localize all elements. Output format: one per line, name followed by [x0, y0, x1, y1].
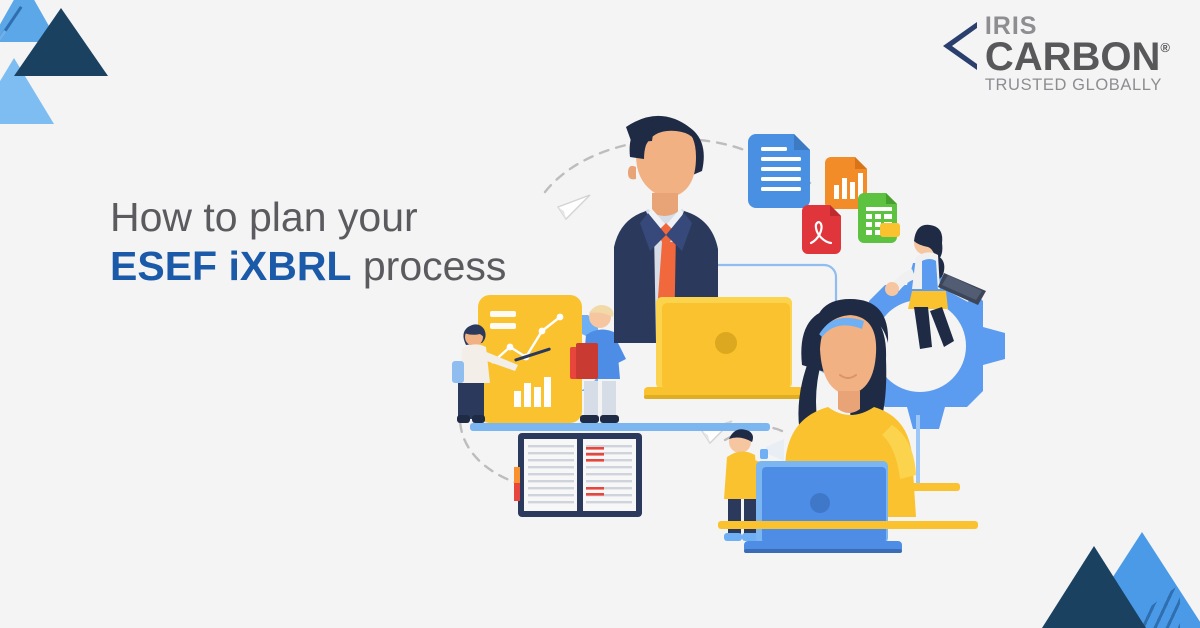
headline-accent: ESEF iXBRL — [110, 243, 351, 289]
document-file-icon — [748, 134, 810, 208]
triangle-dark-bottom-right — [1042, 546, 1146, 628]
blue-laptop — [744, 461, 902, 553]
triangle-dark-top-left — [14, 8, 108, 76]
open-ledger-book — [514, 433, 642, 517]
logo-secondary-row: CARBON ® — [985, 39, 1170, 76]
banner-root: IRIS CARBON ® TRUSTED GLOBALLY How to pl… — [0, 0, 1200, 628]
chevron-mark-icon — [939, 20, 979, 77]
platform-bar — [470, 423, 770, 431]
logo-secondary-text: CARBON — [985, 39, 1161, 76]
esef-ixbrl-process-illustration — [430, 95, 1030, 555]
logo-tagline: TRUSTED GLOBALLY — [985, 77, 1170, 94]
yellow-laptop — [644, 297, 804, 399]
registered-trademark-icon: ® — [1160, 41, 1170, 54]
pdf-file-icon — [802, 205, 841, 254]
paper-airplane — [558, 195, 590, 219]
brand-logo: IRIS CARBON ® TRUSTED GLOBALLY — [939, 14, 1170, 93]
base-platform — [718, 521, 978, 529]
logo-text-block: IRIS CARBON ® TRUSTED GLOBALLY — [985, 14, 1170, 93]
